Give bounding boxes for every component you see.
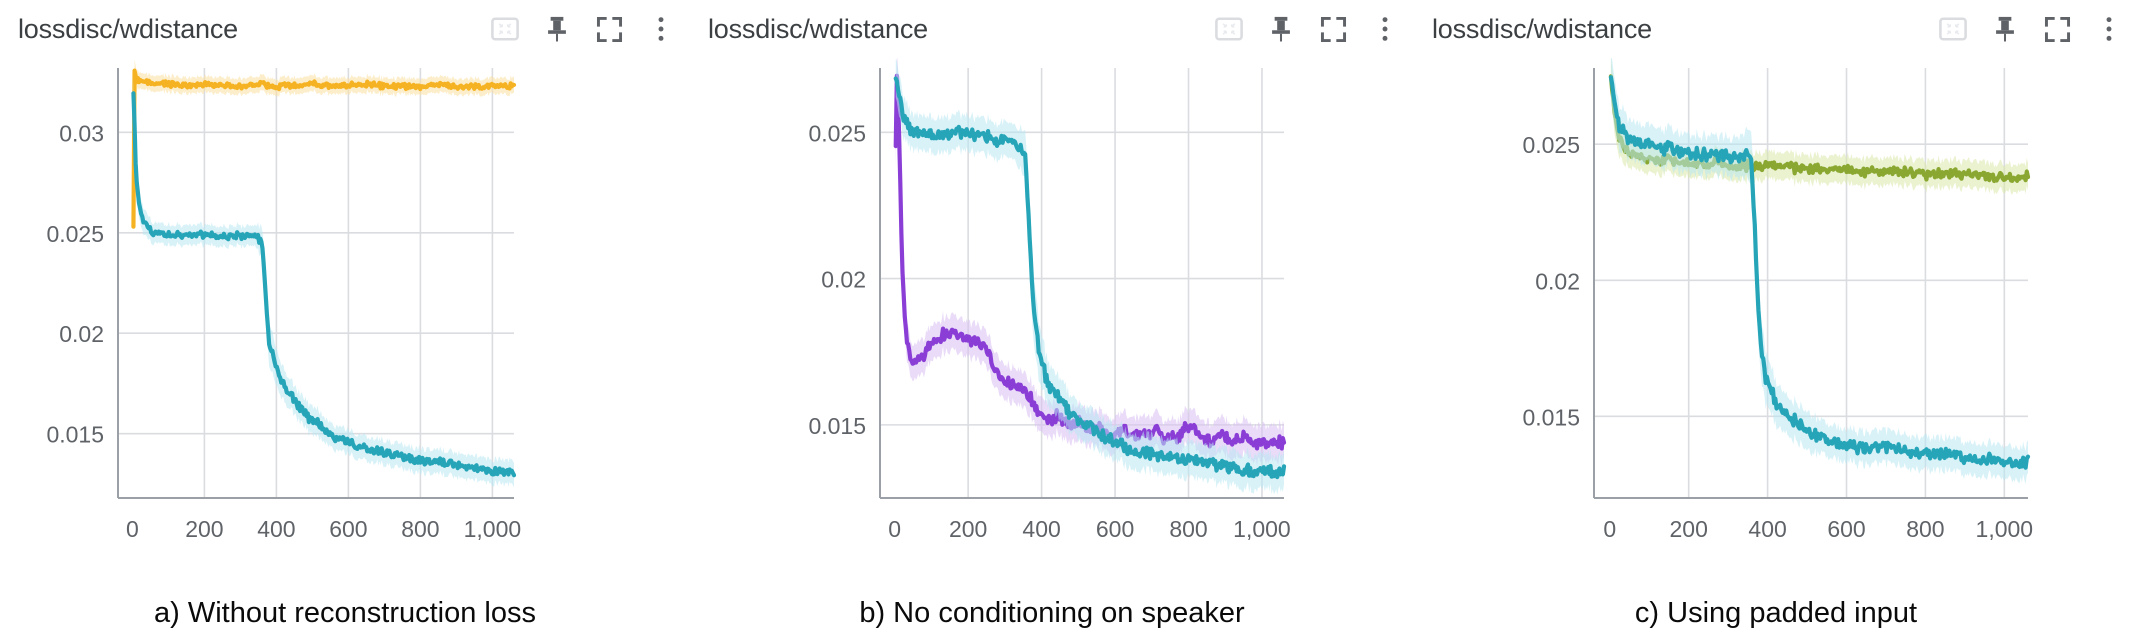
svg-text:400: 400 bbox=[257, 516, 295, 542]
pin-icon[interactable] bbox=[1990, 14, 2020, 44]
svg-text:200: 200 bbox=[185, 516, 223, 542]
svg-text:400: 400 bbox=[1022, 516, 1060, 542]
more-options-icon[interactable] bbox=[2094, 14, 2124, 44]
pin-icon[interactable] bbox=[542, 14, 572, 44]
more-options-icon[interactable] bbox=[1370, 14, 1400, 44]
svg-text:600: 600 bbox=[1827, 516, 1865, 542]
card-title-b: lossdisc/wdistance bbox=[708, 14, 928, 45]
card-toolbar-c bbox=[1938, 14, 2124, 44]
card-header-c: lossdisc/wdistance bbox=[1414, 0, 2138, 58]
card-toolbar-a bbox=[490, 14, 676, 44]
figure-three-loss-charts: lossdisc/wdistance bbox=[0, 0, 2138, 638]
card-header-b: lossdisc/wdistance bbox=[690, 0, 1414, 58]
panel-caption-b: b) No conditioning on speaker bbox=[690, 597, 1414, 630]
panel-caption-c: c) Using padded input bbox=[1414, 597, 2138, 630]
svg-text:0: 0 bbox=[1603, 516, 1616, 542]
card-title-a: lossdisc/wdistance bbox=[18, 14, 238, 45]
chart-card-c: lossdisc/wdistance bbox=[1414, 0, 2138, 558]
svg-text:0.015: 0.015 bbox=[808, 413, 866, 439]
more-options-icon[interactable] bbox=[646, 14, 676, 44]
svg-text:0.03: 0.03 bbox=[59, 120, 104, 146]
svg-text:0.025: 0.025 bbox=[808, 120, 866, 146]
svg-text:200: 200 bbox=[1670, 516, 1708, 542]
svg-text:1,000: 1,000 bbox=[464, 516, 522, 542]
svg-text:0: 0 bbox=[888, 516, 901, 542]
panel-b: lossdisc/wdistance bbox=[690, 0, 1414, 638]
svg-text:0: 0 bbox=[126, 516, 139, 542]
svg-text:0.025: 0.025 bbox=[1522, 132, 1580, 158]
fullscreen-icon[interactable] bbox=[2042, 14, 2072, 44]
svg-text:800: 800 bbox=[1169, 516, 1207, 542]
svg-text:600: 600 bbox=[1096, 516, 1134, 542]
svg-text:0.02: 0.02 bbox=[821, 267, 866, 293]
svg-text:800: 800 bbox=[401, 516, 439, 542]
svg-text:400: 400 bbox=[1748, 516, 1786, 542]
pin-icon[interactable] bbox=[1266, 14, 1296, 44]
svg-text:0.015: 0.015 bbox=[1522, 404, 1580, 430]
plot-area-b[interactable]: 0.0250.020.01502004006008001,000 bbox=[690, 58, 1414, 558]
chart-card-b: lossdisc/wdistance bbox=[690, 0, 1414, 558]
svg-text:0.025: 0.025 bbox=[46, 221, 104, 247]
svg-text:1,000: 1,000 bbox=[1233, 516, 1291, 542]
card-header-a: lossdisc/wdistance bbox=[0, 0, 690, 58]
fit-to-data-icon[interactable] bbox=[1214, 14, 1244, 44]
svg-text:1,000: 1,000 bbox=[1976, 516, 2034, 542]
plot-area-a[interactable]: 0.030.0250.020.01502004006008001,000 bbox=[0, 58, 690, 558]
svg-text:0.015: 0.015 bbox=[46, 422, 104, 448]
plot-area-c[interactable]: 0.0250.020.01502004006008001,000 bbox=[1414, 58, 2138, 558]
svg-text:0.02: 0.02 bbox=[59, 321, 104, 347]
card-toolbar-b bbox=[1214, 14, 1400, 44]
fullscreen-icon[interactable] bbox=[1318, 14, 1348, 44]
svg-text:200: 200 bbox=[949, 516, 987, 542]
svg-text:600: 600 bbox=[329, 516, 367, 542]
fit-to-data-icon[interactable] bbox=[1938, 14, 1968, 44]
panel-c: lossdisc/wdistance bbox=[1414, 0, 2138, 638]
svg-text:800: 800 bbox=[1906, 516, 1944, 542]
svg-text:0.02: 0.02 bbox=[1535, 268, 1580, 294]
panel-caption-a: a) Without reconstruction loss bbox=[0, 597, 690, 630]
fullscreen-icon[interactable] bbox=[594, 14, 624, 44]
chart-card-a: lossdisc/wdistance bbox=[0, 0, 690, 558]
card-title-c: lossdisc/wdistance bbox=[1432, 14, 1652, 45]
panel-a: lossdisc/wdistance bbox=[0, 0, 690, 638]
fit-to-data-icon[interactable] bbox=[490, 14, 520, 44]
